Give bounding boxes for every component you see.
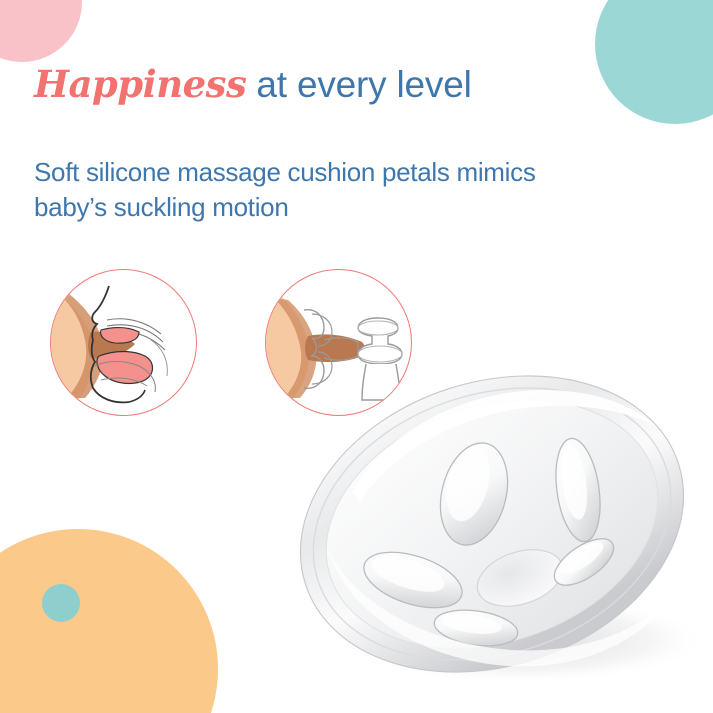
illustration-baby-suckling (50, 269, 197, 416)
teal-circle-decoration (595, 0, 713, 124)
product-image-silicone-cushion (292, 372, 707, 682)
pink-circle-decoration (0, 0, 82, 62)
upper-gum (101, 328, 139, 344)
orange-circle-decoration (0, 529, 218, 713)
page-title: Happiness at every level (34, 63, 472, 107)
page-subtitle: Soft silicone massage cushion petals mim… (34, 155, 604, 224)
page-title-rest: at every level (246, 64, 471, 105)
page-title-accent: Happiness (34, 62, 246, 106)
small-teal-circle-decoration (42, 584, 80, 622)
neck-line (129, 390, 145, 402)
marketing-banner: Happiness at every level Soft silicone m… (0, 0, 713, 713)
